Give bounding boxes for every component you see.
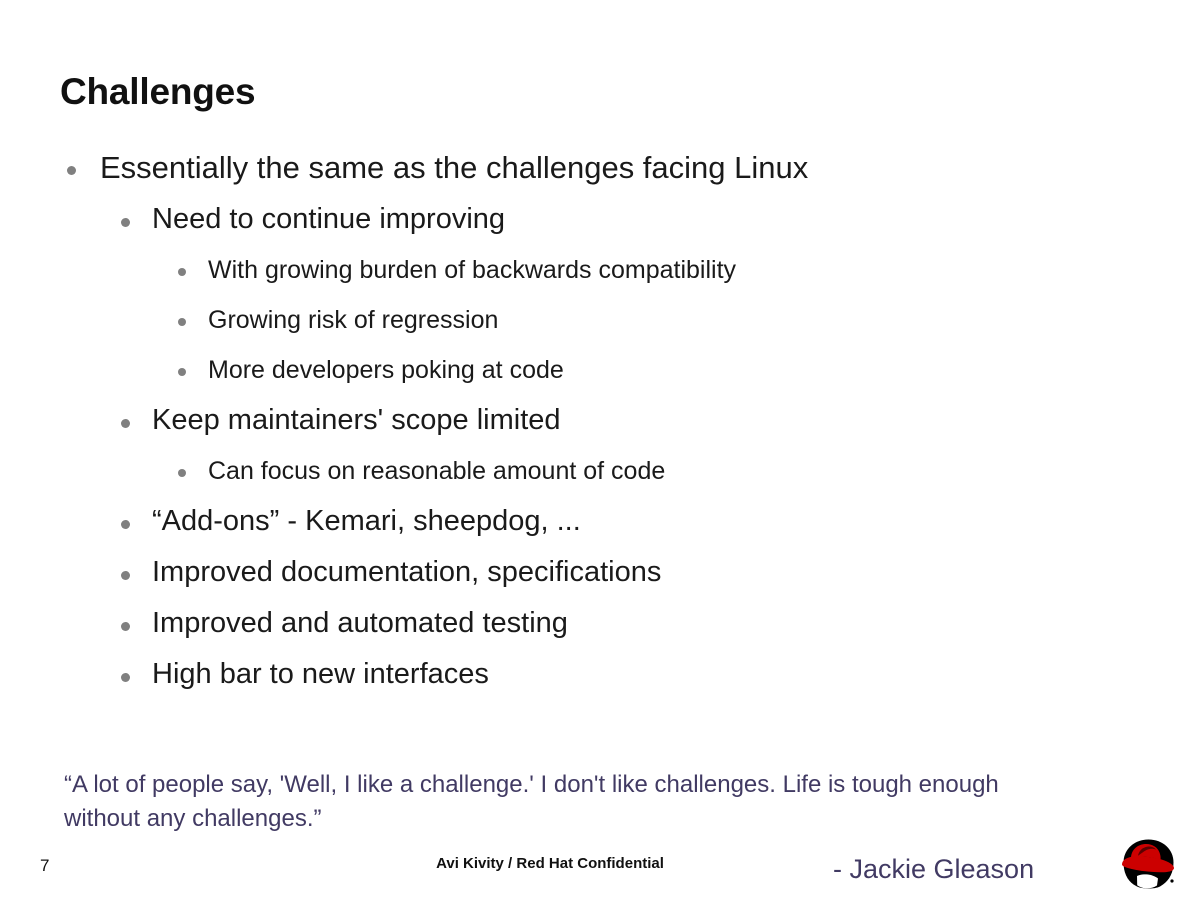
footer-confidentiality-text: Avi Kivity / Red Hat Confidential [0,853,1100,875]
bullet-marker-icon [178,268,186,276]
list-item: Essentially the same as the challenges f… [0,142,1200,194]
bullet-marker-icon [121,622,130,631]
slide: Challenges Essentially the same as the c… [0,0,1200,900]
bullet-marker-icon [121,520,130,529]
quote-text: “A lot of people say, 'Well, I like a ch… [64,768,1074,836]
list-item-label: Keep maintainers' scope limited [152,395,1200,446]
list-item: Can focus on reasonable amount of code [0,446,1200,496]
list-item: Need to continue improving [0,194,1200,245]
list-item-label: Can focus on reasonable amount of code [208,446,1200,496]
bullet-marker-icon [121,673,130,682]
list-item: Keep maintainers' scope limited [0,395,1200,446]
list-item: High bar to new interfaces [0,649,1200,700]
list-item: More developers poking at code [0,345,1200,395]
list-item-label: Need to continue improving [152,194,1200,245]
red-hat-shadowman-logo [1113,836,1183,892]
list-item-label: More developers poking at code [208,345,1200,395]
bullet-list: Essentially the same as the challenges f… [0,142,1200,700]
list-item-label: “Add-ons” - Kemari, sheepdog, ... [152,496,1200,547]
bullet-marker-icon [178,368,186,376]
bullet-marker-icon [121,571,130,580]
bullet-marker-icon [178,469,186,477]
list-item-label: High bar to new interfaces [152,649,1200,700]
page-title: Challenges [60,70,255,114]
list-item-label: Improved and automated testing [152,598,1200,649]
bullet-marker-icon [121,419,130,428]
bullet-marker-icon [121,218,130,227]
bullet-marker-icon [67,166,76,175]
list-item-label: Essentially the same as the challenges f… [100,142,1200,194]
list-item: Improved documentation, specifications [0,547,1200,598]
list-item: With growing burden of backwards compati… [0,245,1200,295]
list-item-label: Growing risk of regression [208,295,1200,345]
list-item-label: Improved documentation, specifications [152,547,1200,598]
list-item: Growing risk of regression [0,295,1200,345]
bullet-marker-icon [178,318,186,326]
list-item: “Add-ons” - Kemari, sheepdog, ... [0,496,1200,547]
list-item: Improved and automated testing [0,598,1200,649]
list-item-label: With growing burden of backwards compati… [208,245,1200,295]
